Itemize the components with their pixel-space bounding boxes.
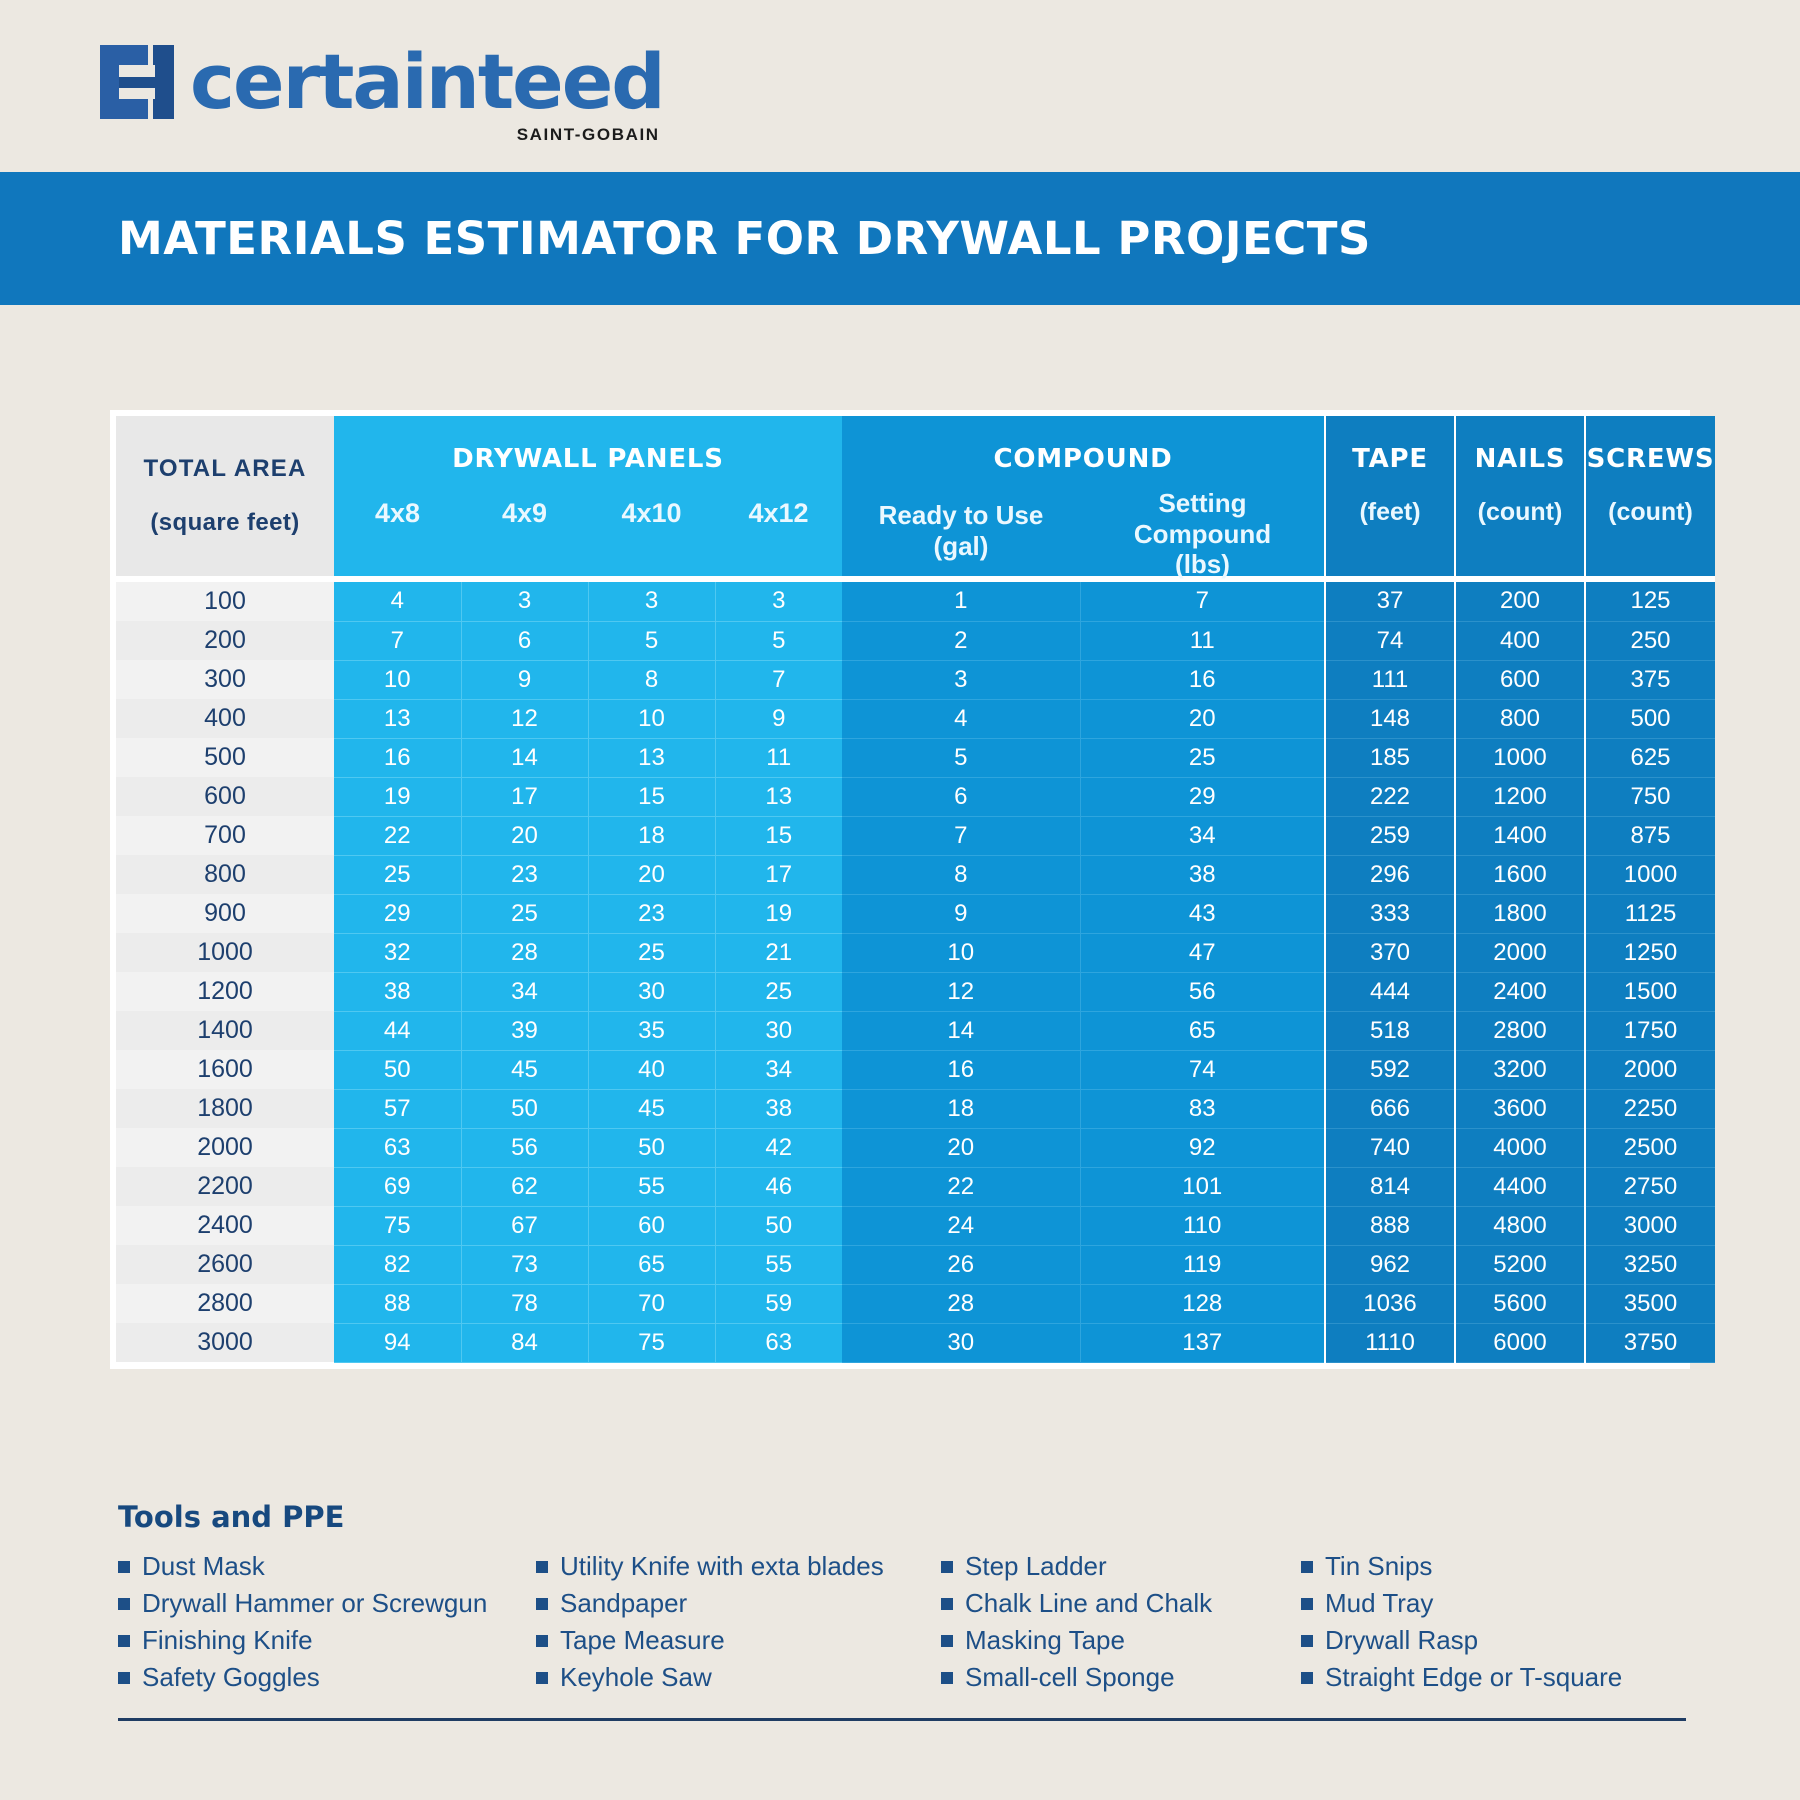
table-row: 9002925231994333318001125 [116, 894, 1715, 933]
cell-panel-4x10: 15 [588, 777, 715, 816]
estimator-table: TOTAL AREA (square feet) DRYWALL PANELS … [116, 416, 1715, 1363]
header-nails-label: NAILS [1456, 444, 1584, 474]
header-compound-subs: Ready to Use (gal) Setting Compound (lbs… [842, 488, 1324, 580]
cell-panel-4x12: 59 [715, 1284, 842, 1323]
cell-panel-4x9: 23 [461, 855, 588, 894]
cell-panel-4x12: 30 [715, 1011, 842, 1050]
square-bullet-icon [941, 1672, 953, 1684]
cell-panel-4x9: 6 [461, 621, 588, 660]
cell-panel-4x10: 23 [588, 894, 715, 933]
cell-tape: 259 [1325, 816, 1455, 855]
header-ready-to-use-l2: (gal) [842, 531, 1080, 562]
cell-tape: 222 [1325, 777, 1455, 816]
cell-panel-4x12: 19 [715, 894, 842, 933]
cell-screws: 1750 [1585, 1011, 1715, 1050]
cell-panel-4x9: 62 [461, 1167, 588, 1206]
cell-screws: 1500 [1585, 972, 1715, 1011]
tool-list-item-label: Utility Knife with exta blades [560, 1548, 884, 1585]
cell-nails: 1400 [1455, 816, 1585, 855]
cell-panel-4x10: 25 [588, 933, 715, 972]
cell-panel-4x12: 42 [715, 1128, 842, 1167]
cell-ready-to-use: 6 [842, 777, 1080, 816]
cell-ready-to-use: 1 [842, 582, 1080, 621]
table-row: 700222018157342591400875 [116, 816, 1715, 855]
cell-tape: 296 [1325, 855, 1455, 894]
cell-setting-compound: 16 [1080, 660, 1325, 699]
tool-list-item-label: Safety Goggles [142, 1659, 320, 1696]
cell-panel-4x8: 75 [334, 1206, 461, 1245]
tool-list-item-label: Drywall Rasp [1325, 1622, 1478, 1659]
cell-tape: 592 [1325, 1050, 1455, 1089]
cell-panel-4x9: 34 [461, 972, 588, 1011]
table-row: 600191715136292221200750 [116, 777, 1715, 816]
cell-panel-4x9: 78 [461, 1284, 588, 1323]
cell-panel-4x8: 25 [334, 855, 461, 894]
cell-panel-4x9: 39 [461, 1011, 588, 1050]
table-row: 200765521174400250 [116, 621, 1715, 660]
cell-ready-to-use: 3 [842, 660, 1080, 699]
title-band: MATERIALS ESTIMATOR FOR DRYWALL PROJECTS [0, 172, 1800, 305]
cell-panel-4x8: 82 [334, 1245, 461, 1284]
cell-panel-4x12: 9 [715, 699, 842, 738]
cell-panel-4x8: 69 [334, 1167, 461, 1206]
cell-panel-4x8: 16 [334, 738, 461, 777]
table-body: 1004333173720012520076552117440025030010… [116, 582, 1715, 1362]
table-row: 30009484756330137111060003750 [116, 1323, 1715, 1362]
cell-nails: 800 [1455, 699, 1585, 738]
cell-screws: 3500 [1585, 1284, 1715, 1323]
table-row: 160050454034167459232002000 [116, 1050, 1715, 1089]
header-total-area-label: TOTAL AREA [116, 455, 334, 483]
cell-screws: 1125 [1585, 894, 1715, 933]
cell-total-area: 800 [116, 855, 334, 894]
cell-panel-4x10: 18 [588, 816, 715, 855]
cell-screws: 3250 [1585, 1245, 1715, 1284]
brand-logo: certainteed SAINT-GOBAIN [100, 45, 664, 145]
cell-nails: 6000 [1455, 1323, 1585, 1362]
cell-nails: 200 [1455, 582, 1585, 621]
header-screws: SCREWS (count) [1585, 416, 1715, 576]
cell-panel-4x12: 3 [715, 582, 842, 621]
cell-total-area: 400 [116, 699, 334, 738]
cell-panel-4x9: 50 [461, 1089, 588, 1128]
cell-setting-compound: 20 [1080, 699, 1325, 738]
square-bullet-icon [941, 1561, 953, 1573]
tool-list-item: Chalk Line and Chalk [941, 1585, 1301, 1622]
cell-setting-compound: 47 [1080, 933, 1325, 972]
cell-panel-4x10: 10 [588, 699, 715, 738]
tool-list-item-label: Step Ladder [965, 1548, 1107, 1585]
cell-screws: 250 [1585, 621, 1715, 660]
tool-list-item-label: Finishing Knife [142, 1622, 313, 1659]
tools-and-ppe-section: Tools and PPE Dust MaskDrywall Hammer or… [118, 1500, 1688, 1696]
tools-column-2: Utility Knife with exta bladesSandpaperT… [536, 1548, 941, 1696]
header-compound-label: COMPOUND [842, 444, 1324, 474]
tools-column-3: Step LadderChalk Line and ChalkMasking T… [941, 1548, 1301, 1696]
cell-panel-4x8: 94 [334, 1323, 461, 1362]
square-bullet-icon [118, 1561, 130, 1573]
table-row: 100032282521104737020001250 [116, 933, 1715, 972]
header-panel-size-4x8: 4x8 [334, 498, 461, 529]
cell-nails: 600 [1455, 660, 1585, 699]
cell-screws: 125 [1585, 582, 1715, 621]
cell-ready-to-use: 22 [842, 1167, 1080, 1206]
header-nails-unit: (count) [1456, 498, 1584, 527]
cell-nails: 4400 [1455, 1167, 1585, 1206]
cell-panel-4x8: 13 [334, 699, 461, 738]
cell-panel-4x12: 63 [715, 1323, 842, 1362]
cell-panel-4x8: 38 [334, 972, 461, 1011]
cell-screws: 1250 [1585, 933, 1715, 972]
cell-nails: 1800 [1455, 894, 1585, 933]
cell-setting-compound: 56 [1080, 972, 1325, 1011]
cell-tape: 740 [1325, 1128, 1455, 1167]
cell-setting-compound: 137 [1080, 1323, 1325, 1362]
tool-list-item-label: Drywall Hammer or Screwgun [142, 1585, 487, 1622]
cell-panel-4x12: 38 [715, 1089, 842, 1128]
table-row: 8002523201783829616001000 [116, 855, 1715, 894]
square-bullet-icon [118, 1598, 130, 1610]
cell-panel-4x9: 73 [461, 1245, 588, 1284]
cell-panel-4x10: 75 [588, 1323, 715, 1362]
cell-panel-4x10: 65 [588, 1245, 715, 1284]
cell-screws: 2250 [1585, 1089, 1715, 1128]
tool-list-item-label: Chalk Line and Chalk [965, 1585, 1212, 1622]
header-screws-unit: (count) [1586, 498, 1715, 527]
header-setting-l1: Setting [1080, 488, 1325, 519]
table-row: 2600827365552611996252003250 [116, 1245, 1715, 1284]
cell-panel-4x12: 55 [715, 1245, 842, 1284]
cell-total-area: 1200 [116, 972, 334, 1011]
square-bullet-icon [118, 1672, 130, 1684]
tool-list-item: Dust Mask [118, 1548, 536, 1585]
tool-list-item-label: Tape Measure [560, 1622, 725, 1659]
cell-setting-compound: 25 [1080, 738, 1325, 777]
cell-ready-to-use: 30 [842, 1323, 1080, 1362]
cell-panel-4x9: 56 [461, 1128, 588, 1167]
header-total-area-unit: (square feet) [116, 509, 334, 537]
cell-nails: 1200 [1455, 777, 1585, 816]
table-row: 10043331737200125 [116, 582, 1715, 621]
cell-panel-4x8: 19 [334, 777, 461, 816]
page-root: certainteed SAINT-GOBAIN MATERIALS ESTIM… [0, 0, 1800, 1800]
cell-total-area: 600 [116, 777, 334, 816]
header-screws-label: SCREWS [1586, 444, 1715, 474]
header-drywall-panels: DRYWALL PANELS 4x8 4x9 4x10 4x12 [334, 416, 842, 576]
tool-list-item-label: Masking Tape [965, 1622, 1125, 1659]
cell-panel-4x10: 30 [588, 972, 715, 1011]
cell-tape: 148 [1325, 699, 1455, 738]
cell-panel-4x9: 25 [461, 894, 588, 933]
cell-tape: 518 [1325, 1011, 1455, 1050]
table-row: 120038343025125644424001500 [116, 972, 1715, 1011]
cell-ready-to-use: 14 [842, 1011, 1080, 1050]
cell-setting-compound: 92 [1080, 1128, 1325, 1167]
tool-list-item-label: Sandpaper [560, 1585, 687, 1622]
table-row: 2400756760502411088848003000 [116, 1206, 1715, 1245]
tool-list-item: Step Ladder [941, 1548, 1301, 1585]
cell-panel-4x8: 4 [334, 582, 461, 621]
tool-list-item: Safety Goggles [118, 1659, 536, 1696]
cell-panel-4x12: 13 [715, 777, 842, 816]
cell-tape: 444 [1325, 972, 1455, 1011]
tool-list-item: Tin Snips [1301, 1548, 1661, 1585]
cell-panel-4x12: 50 [715, 1206, 842, 1245]
cell-screws: 1000 [1585, 855, 1715, 894]
cell-tape: 1110 [1325, 1323, 1455, 1362]
square-bullet-icon [536, 1598, 548, 1610]
cell-total-area: 1400 [116, 1011, 334, 1050]
cell-panel-4x10: 13 [588, 738, 715, 777]
square-bullet-icon [941, 1635, 953, 1647]
cell-tape: 962 [1325, 1245, 1455, 1284]
cell-panel-4x10: 5 [588, 621, 715, 660]
cell-total-area: 100 [116, 582, 334, 621]
cell-total-area: 500 [116, 738, 334, 777]
logo-wordmark: certainteed [190, 48, 664, 116]
cell-setting-compound: 101 [1080, 1167, 1325, 1206]
cell-total-area: 2400 [116, 1206, 334, 1245]
tool-list-item: Small-cell Sponge [941, 1659, 1301, 1696]
tool-list-item: Utility Knife with exta blades [536, 1548, 941, 1585]
table-row: 500161413115251851000625 [116, 738, 1715, 777]
cell-panel-4x10: 60 [588, 1206, 715, 1245]
cell-total-area: 2600 [116, 1245, 334, 1284]
header-panel-size-4x12: 4x12 [715, 498, 842, 529]
cell-panel-4x8: 88 [334, 1284, 461, 1323]
cell-panel-4x8: 22 [334, 816, 461, 855]
square-bullet-icon [536, 1561, 548, 1573]
tool-list-item: Finishing Knife [118, 1622, 536, 1659]
header-drywall-panels-label: DRYWALL PANELS [334, 444, 842, 474]
cell-tape: 1036 [1325, 1284, 1455, 1323]
cell-total-area: 1600 [116, 1050, 334, 1089]
page-title: MATERIALS ESTIMATOR FOR DRYWALL PROJECTS [118, 212, 1371, 265]
cell-tape: 370 [1325, 933, 1455, 972]
cell-ready-to-use: 5 [842, 738, 1080, 777]
header-total-area: TOTAL AREA (square feet) [116, 416, 334, 576]
cell-tape: 37 [1325, 582, 1455, 621]
tool-list-item-label: Dust Mask [142, 1548, 265, 1585]
logo-subbrand: SAINT-GOBAIN [517, 125, 660, 145]
table-row: 140044393530146551828001750 [116, 1011, 1715, 1050]
cell-panel-4x10: 3 [588, 582, 715, 621]
certainteed-square-icon [100, 45, 174, 119]
header-panel-size-4x9: 4x9 [461, 498, 588, 529]
cell-nails: 1600 [1455, 855, 1585, 894]
cell-panel-4x12: 7 [715, 660, 842, 699]
header-ready-to-use-l1: Ready to Use [842, 500, 1080, 531]
tool-list-item: Tape Measure [536, 1622, 941, 1659]
cell-panel-4x9: 45 [461, 1050, 588, 1089]
cell-screws: 375 [1585, 660, 1715, 699]
cell-screws: 3750 [1585, 1323, 1715, 1362]
cell-panel-4x8: 10 [334, 660, 461, 699]
cell-setting-compound: 74 [1080, 1050, 1325, 1089]
cell-setting-compound: 11 [1080, 621, 1325, 660]
cell-nails: 5200 [1455, 1245, 1585, 1284]
cell-panel-4x12: 15 [715, 816, 842, 855]
tool-list-item-label: Tin Snips [1325, 1548, 1432, 1585]
square-bullet-icon [536, 1672, 548, 1684]
cell-nails: 4000 [1455, 1128, 1585, 1167]
cell-panel-4x10: 40 [588, 1050, 715, 1089]
cell-panel-4x9: 28 [461, 933, 588, 972]
cell-ready-to-use: 12 [842, 972, 1080, 1011]
cell-setting-compound: 43 [1080, 894, 1325, 933]
cell-panel-4x8: 44 [334, 1011, 461, 1050]
square-bullet-icon [1301, 1635, 1313, 1647]
cell-panel-4x12: 5 [715, 621, 842, 660]
cell-panel-4x9: 84 [461, 1323, 588, 1362]
cell-setting-compound: 65 [1080, 1011, 1325, 1050]
cell-total-area: 3000 [116, 1323, 334, 1362]
cell-panel-4x9: 12 [461, 699, 588, 738]
tool-list-item-label: Keyhole Saw [560, 1659, 712, 1696]
cell-panel-4x8: 57 [334, 1089, 461, 1128]
cell-panel-4x10: 20 [588, 855, 715, 894]
cell-panel-4x12: 21 [715, 933, 842, 972]
tool-list-item: Straight Edge or T-square [1301, 1659, 1661, 1696]
cell-panel-4x8: 50 [334, 1050, 461, 1089]
cell-ready-to-use: 9 [842, 894, 1080, 933]
cell-total-area: 900 [116, 894, 334, 933]
cell-nails: 3600 [1455, 1089, 1585, 1128]
header-setting-l2: Compound [1080, 519, 1325, 550]
cell-nails: 2000 [1455, 933, 1585, 972]
cell-panel-4x9: 14 [461, 738, 588, 777]
cell-screws: 2000 [1585, 1050, 1715, 1089]
cell-screws: 875 [1585, 816, 1715, 855]
cell-tape: 74 [1325, 621, 1455, 660]
cell-panel-4x12: 46 [715, 1167, 842, 1206]
cell-ready-to-use: 7 [842, 816, 1080, 855]
cell-ready-to-use: 24 [842, 1206, 1080, 1245]
cell-panel-4x9: 20 [461, 816, 588, 855]
cell-ready-to-use: 26 [842, 1245, 1080, 1284]
header-tape: TAPE (feet) [1325, 416, 1455, 576]
cell-tape: 185 [1325, 738, 1455, 777]
cell-tape: 666 [1325, 1089, 1455, 1128]
cell-panel-4x9: 17 [461, 777, 588, 816]
cell-nails: 2800 [1455, 1011, 1585, 1050]
header-nails: NAILS (count) [1455, 416, 1585, 576]
table-row: 2200696255462210181444002750 [116, 1167, 1715, 1206]
cell-screws: 500 [1585, 699, 1715, 738]
cell-panel-4x10: 55 [588, 1167, 715, 1206]
cell-nails: 400 [1455, 621, 1585, 660]
header-ready-to-use: Ready to Use (gal) [842, 488, 1080, 561]
cell-ready-to-use: 2 [842, 621, 1080, 660]
square-bullet-icon [941, 1598, 953, 1610]
cell-ready-to-use: 20 [842, 1128, 1080, 1167]
cell-nails: 1000 [1455, 738, 1585, 777]
cell-screws: 2750 [1585, 1167, 1715, 1206]
cell-tape: 814 [1325, 1167, 1455, 1206]
bottom-divider [118, 1718, 1686, 1721]
cell-nails: 4800 [1455, 1206, 1585, 1245]
cell-panel-4x12: 25 [715, 972, 842, 1011]
cell-panel-4x8: 32 [334, 933, 461, 972]
tool-list-item: Sandpaper [536, 1585, 941, 1622]
table-row: 200063565042209274040002500 [116, 1128, 1715, 1167]
cell-total-area: 2200 [116, 1167, 334, 1206]
cell-tape: 888 [1325, 1206, 1455, 1245]
cell-total-area: 1800 [116, 1089, 334, 1128]
cell-total-area: 1000 [116, 933, 334, 972]
tool-list-item: Masking Tape [941, 1622, 1301, 1659]
cell-panel-4x8: 29 [334, 894, 461, 933]
tools-section-title: Tools and PPE [118, 1500, 1688, 1534]
square-bullet-icon [1301, 1561, 1313, 1573]
cell-tape: 333 [1325, 894, 1455, 933]
cell-panel-4x10: 35 [588, 1011, 715, 1050]
table-row: 4001312109420148800500 [116, 699, 1715, 738]
cell-panel-4x8: 7 [334, 621, 461, 660]
tool-list-item-label: Small-cell Sponge [965, 1659, 1175, 1696]
cell-panel-4x12: 11 [715, 738, 842, 777]
cell-panel-4x10: 45 [588, 1089, 715, 1128]
cell-nails: 5600 [1455, 1284, 1585, 1323]
header-panel-size-4x10: 4x10 [588, 498, 715, 529]
tool-list-item: Mud Tray [1301, 1585, 1661, 1622]
cell-setting-compound: 110 [1080, 1206, 1325, 1245]
cell-setting-compound: 128 [1080, 1284, 1325, 1323]
header-setting-l3: (lbs) [1080, 549, 1325, 580]
square-bullet-icon [536, 1635, 548, 1647]
cell-panel-4x9: 67 [461, 1206, 588, 1245]
header-setting-compound: Setting Compound (lbs) [1080, 488, 1325, 580]
cell-screws: 2500 [1585, 1128, 1715, 1167]
cell-panel-4x10: 50 [588, 1128, 715, 1167]
header-panel-sizes: 4x8 4x9 4x10 4x12 [334, 498, 842, 529]
header-tape-unit: (feet) [1326, 498, 1454, 527]
tool-list-item: Drywall Rasp [1301, 1622, 1661, 1659]
table-row: 30010987316111600375 [116, 660, 1715, 699]
square-bullet-icon [118, 1635, 130, 1647]
tools-column-4: Tin SnipsMud TrayDrywall RaspStraight Ed… [1301, 1548, 1661, 1696]
cell-total-area: 300 [116, 660, 334, 699]
cell-ready-to-use: 8 [842, 855, 1080, 894]
cell-panel-4x12: 17 [715, 855, 842, 894]
tools-column-1: Dust MaskDrywall Hammer or ScrewgunFinis… [118, 1548, 536, 1696]
tool-list-item: Keyhole Saw [536, 1659, 941, 1696]
cell-setting-compound: 83 [1080, 1089, 1325, 1128]
cell-screws: 3000 [1585, 1206, 1715, 1245]
header-tape-label: TAPE [1326, 444, 1454, 474]
square-bullet-icon [1301, 1598, 1313, 1610]
cell-ready-to-use: 28 [842, 1284, 1080, 1323]
cell-tape: 111 [1325, 660, 1455, 699]
estimator-table-wrap: TOTAL AREA (square feet) DRYWALL PANELS … [110, 410, 1690, 1369]
cell-panel-4x10: 70 [588, 1284, 715, 1323]
cell-nails: 2400 [1455, 972, 1585, 1011]
cell-setting-compound: 29 [1080, 777, 1325, 816]
cell-screws: 625 [1585, 738, 1715, 777]
cell-ready-to-use: 4 [842, 699, 1080, 738]
cell-panel-4x12: 34 [715, 1050, 842, 1089]
cell-setting-compound: 38 [1080, 855, 1325, 894]
cell-screws: 750 [1585, 777, 1715, 816]
tools-columns: Dust MaskDrywall Hammer or ScrewgunFinis… [118, 1548, 1688, 1696]
cell-total-area: 2800 [116, 1284, 334, 1323]
cell-ready-to-use: 10 [842, 933, 1080, 972]
cell-ready-to-use: 16 [842, 1050, 1080, 1089]
table-row: 180057504538188366636002250 [116, 1089, 1715, 1128]
cell-setting-compound: 119 [1080, 1245, 1325, 1284]
cell-panel-4x10: 8 [588, 660, 715, 699]
cell-panel-4x9: 9 [461, 660, 588, 699]
